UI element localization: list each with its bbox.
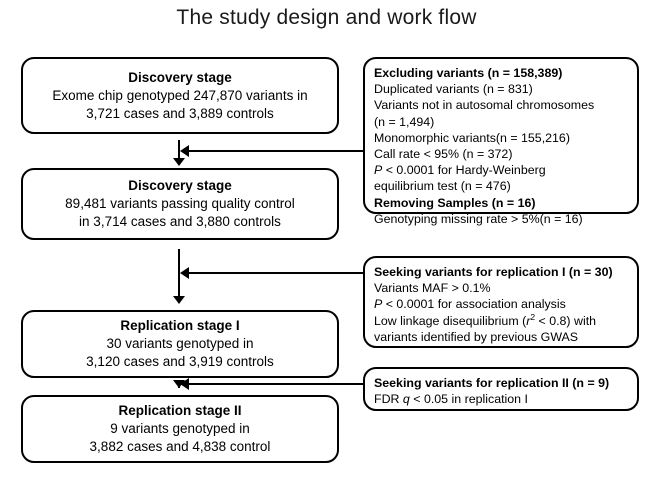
filter-line-pvalue: P < 0.0001 for association analysis [374, 296, 637, 312]
filter-line-ld: Low linkage disequilibrium (r2 < 0.8) wi… [374, 313, 637, 329]
stage-title: Discovery stage [128, 177, 232, 195]
filter-line: equilibrium test (n = 476) [374, 178, 637, 194]
stage-title: Replication stage I [120, 317, 239, 335]
stage-box-discovery-1: Discovery stage Exome chip genotyped 247… [21, 57, 339, 134]
filter-line-fdr: FDR q < 0.05 in replication I [374, 391, 637, 407]
connector-arrowhead-left-2 [180, 267, 189, 279]
stage-line: Exome chip genotyped 247,870 variants in [52, 87, 307, 105]
filter-line: Genotyping missing rate > 5%(n = 16) [374, 211, 637, 227]
connector-arrowhead-left-1 [180, 145, 189, 157]
ld-prefix: Low linkage disequilibrium ( [374, 314, 526, 328]
stage-line: 3,882 cases and 4,838 control [90, 438, 271, 456]
filter-heading: Excluding variants (n = 158,389) [374, 65, 637, 81]
stage-title: Replication stage II [118, 402, 241, 420]
filter-box-seeking-replication-2: Seeking variants for replication II (n =… [363, 367, 639, 411]
filter-heading: Seeking variants for replication II (n =… [374, 375, 637, 391]
stage-box-discovery-2: Discovery stage 89,481 variants passing … [21, 168, 339, 240]
filter-line-pvalue-rest: < 0.0001 for association analysis [382, 297, 566, 311]
filter-line: Call rate < 95% (n = 372) [374, 146, 637, 162]
filter-heading: Removing Samples (n = 16) [374, 195, 637, 211]
filter-line: Variants MAF > 0.1% [374, 280, 637, 296]
stage-line: 30 variants genotyped in [106, 335, 253, 353]
stage-box-replication-1: Replication stage I 30 variants genotype… [21, 310, 339, 378]
filter-heading: Seeking variants for replication I (n = … [374, 264, 637, 280]
filter-line-hwe: P < 0.0001 for Hardy-Weinberg [374, 162, 637, 178]
stage-box-replication-2: Replication stage II 9 variants genotype… [21, 395, 339, 463]
stage-line: 9 variants genotyped in [110, 420, 250, 438]
filter-line: variants identified by previous GWAS [374, 329, 637, 345]
page-title: The study design and work flow [0, 6, 653, 30]
filter-line: Monomorphic variants(n = 155,216) [374, 130, 637, 146]
stage-line: 3,721 cases and 3,889 controls [86, 105, 274, 123]
fdr-suffix: < 0.05 in replication I [410, 392, 528, 406]
filter-box-excluding-variants: Excluding variants (n = 158,389) Duplica… [363, 57, 639, 214]
connector-hline-3 [188, 383, 363, 385]
filter-line: Variants not in autosomal chromosomes [374, 97, 637, 113]
stage-line: 89,481 variants passing quality control [65, 195, 295, 213]
ld-suffix: < 0.8) with [535, 314, 596, 328]
filter-line: (n = 1,494) [374, 114, 637, 130]
filter-line: Duplicated variants (n = 831) [374, 81, 637, 97]
connector-arrowhead-left-3 [180, 378, 189, 390]
connector-hline-1 [188, 150, 363, 152]
connector-arrowhead-down-2 [173, 296, 185, 304]
filter-line-hwe-rest: < 0.0001 for Hardy-Weinberg [382, 163, 545, 177]
filter-box-seeking-replication-1: Seeking variants for replication I (n = … [363, 256, 639, 348]
stage-line: in 3,714 cases and 3,880 controls [79, 213, 281, 231]
stage-title: Discovery stage [128, 69, 232, 87]
connector-arrowhead-down-1 [173, 158, 185, 166]
stage-line: 3,120 cases and 3,919 controls [86, 353, 274, 371]
fdr-prefix: FDR [374, 392, 403, 406]
connector-hline-2 [188, 272, 363, 274]
